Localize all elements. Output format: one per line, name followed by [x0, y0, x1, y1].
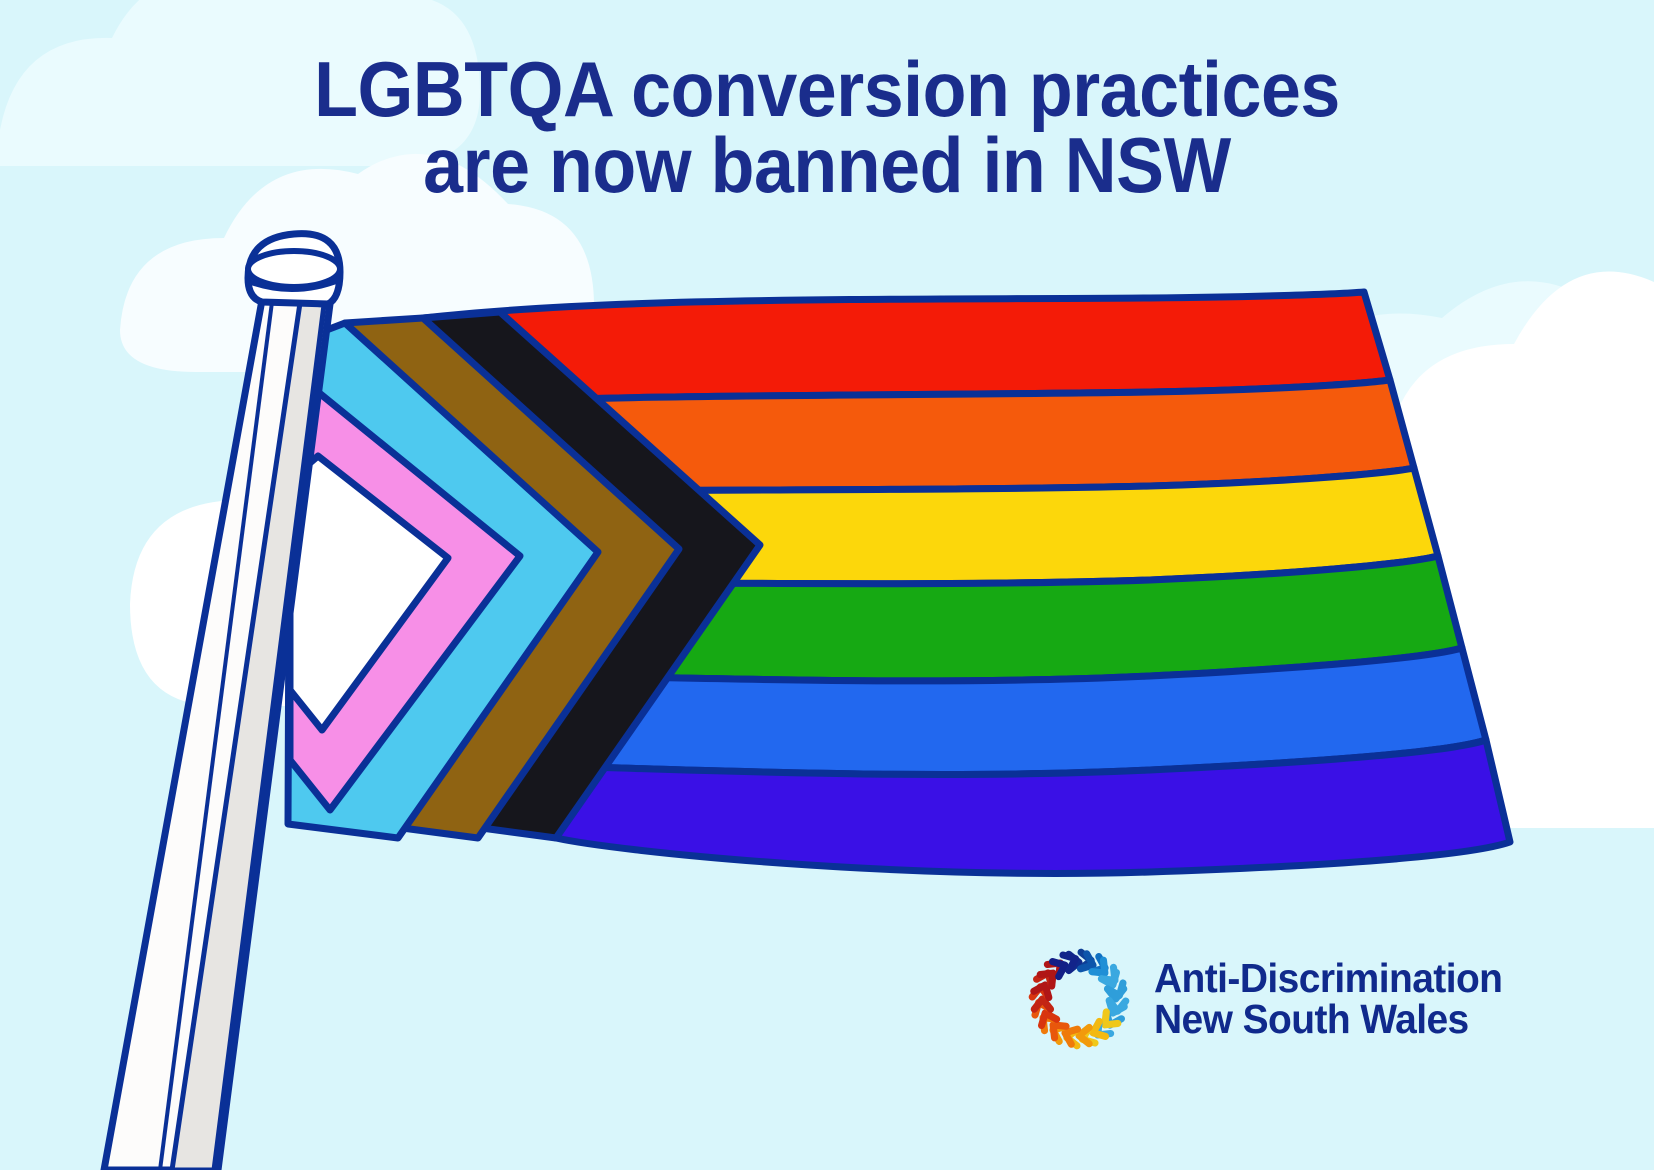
- headline-line-1: LGBTQA conversion practices: [66, 52, 1588, 128]
- headline-line-2: are now banned in NSW: [66, 128, 1588, 204]
- headline: LGBTQA conversion practices are now bann…: [66, 52, 1588, 203]
- poster-canvas: LGBTQA conversion practices are now bann…: [0, 0, 1654, 1170]
- logo-line-2: New South Wales: [1154, 999, 1502, 1040]
- anti-discrimination-nsw-logo: Anti-Discrimination New South Wales: [1018, 938, 1521, 1060]
- logo-wordmark: Anti-Discrimination New South Wales: [1154, 958, 1502, 1040]
- finial-top-ellipse: [248, 251, 340, 287]
- flagpole-finial: [248, 234, 340, 304]
- chevron-ring-icon: [1018, 938, 1140, 1060]
- logo-line-1: Anti-Discrimination: [1154, 958, 1502, 999]
